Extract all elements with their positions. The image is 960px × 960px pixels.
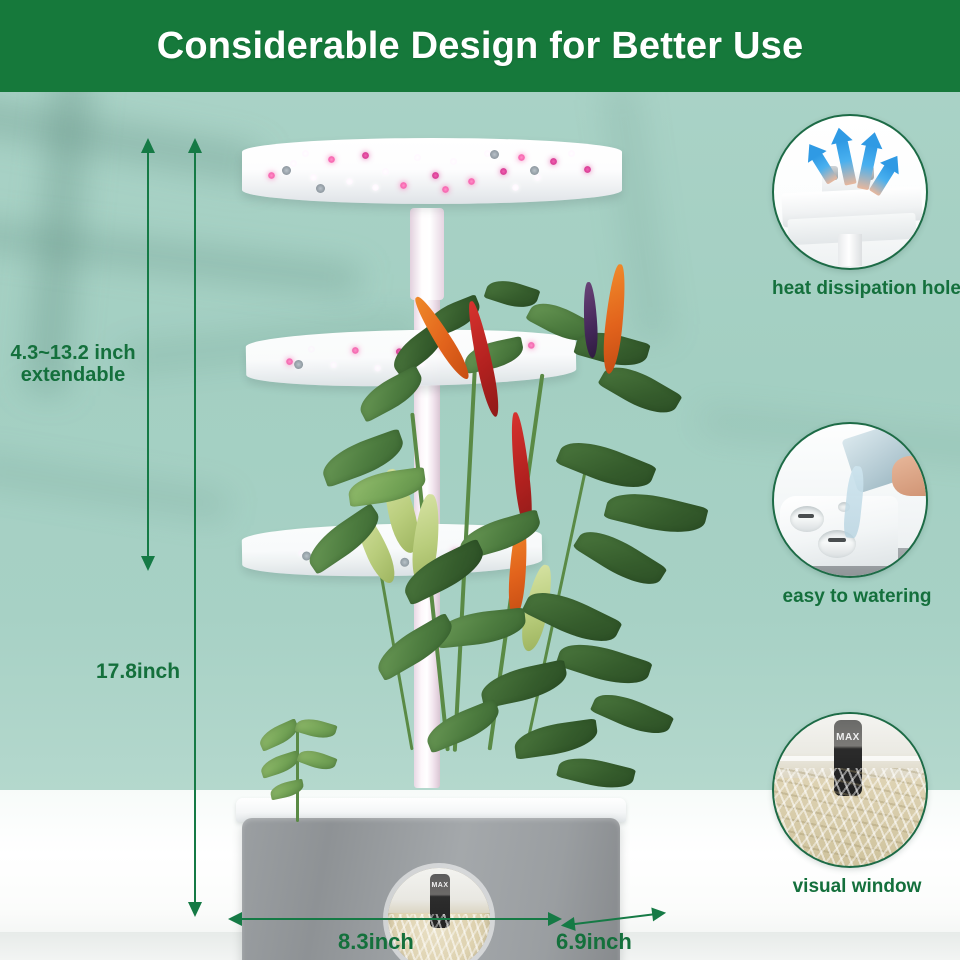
feature-caption-heat-dissipation: heat dissipation hole — [772, 278, 942, 300]
pod-slot — [798, 514, 814, 518]
lamp-neck — [838, 234, 862, 266]
led-array — [242, 521, 543, 578]
led-grow-light-panel-top — [242, 138, 622, 204]
pod-hole — [790, 506, 824, 532]
led-array — [246, 327, 577, 389]
leaf-shadow — [0, 96, 261, 182]
pole-upper-segment — [410, 208, 444, 300]
feature-caption-easy-watering: easy to watering — [772, 586, 942, 608]
feature-easy-to-watering: easy to watering — [772, 422, 942, 608]
product-scene: MAX 12h — [0, 92, 960, 960]
dimension-label-extendable: 4.3~13.2 inch extendable — [6, 342, 140, 387]
leaf-shadow — [0, 452, 231, 522]
dimension-label-extendable-line2: extendable — [6, 364, 140, 386]
hand — [892, 456, 928, 496]
header-banner: Considerable Design for Better Use — [0, 0, 960, 92]
hydroponic-garden-device: MAX 12h — [228, 112, 648, 942]
feature-image-heat-dissipation — [772, 114, 928, 270]
dimension-label-total-height: 17.8inch — [96, 660, 180, 684]
dimension-label-base-depth: 6.9inch — [556, 930, 632, 955]
led-array — [242, 138, 622, 204]
pod-slot — [828, 538, 846, 542]
dimension-label-extendable-line1: 4.3~13.2 inch — [6, 342, 140, 364]
led-grow-light-panel-bottom — [242, 521, 543, 578]
feature-heat-dissipation-hole: heat dissipation hole — [772, 114, 942, 300]
infographic-page: Considerable Design for Better Use — [0, 0, 960, 960]
feature-image-easy-watering — [772, 422, 928, 578]
tank-lid-with-pods — [780, 496, 898, 566]
max-level-label: MAX — [428, 882, 452, 889]
led-grow-light-panel-middle — [246, 327, 577, 389]
feature-visual-window: MAX visual window — [772, 712, 942, 898]
page-title: Considerable Design for Better Use — [157, 25, 804, 68]
feature-caption-visual-window: visual window — [772, 876, 942, 898]
feature-image-visual-window: MAX — [772, 712, 928, 868]
dimension-label-base-width: 8.3inch — [338, 930, 414, 955]
visible-roots — [774, 768, 926, 866]
max-level-label: MAX — [830, 732, 866, 743]
